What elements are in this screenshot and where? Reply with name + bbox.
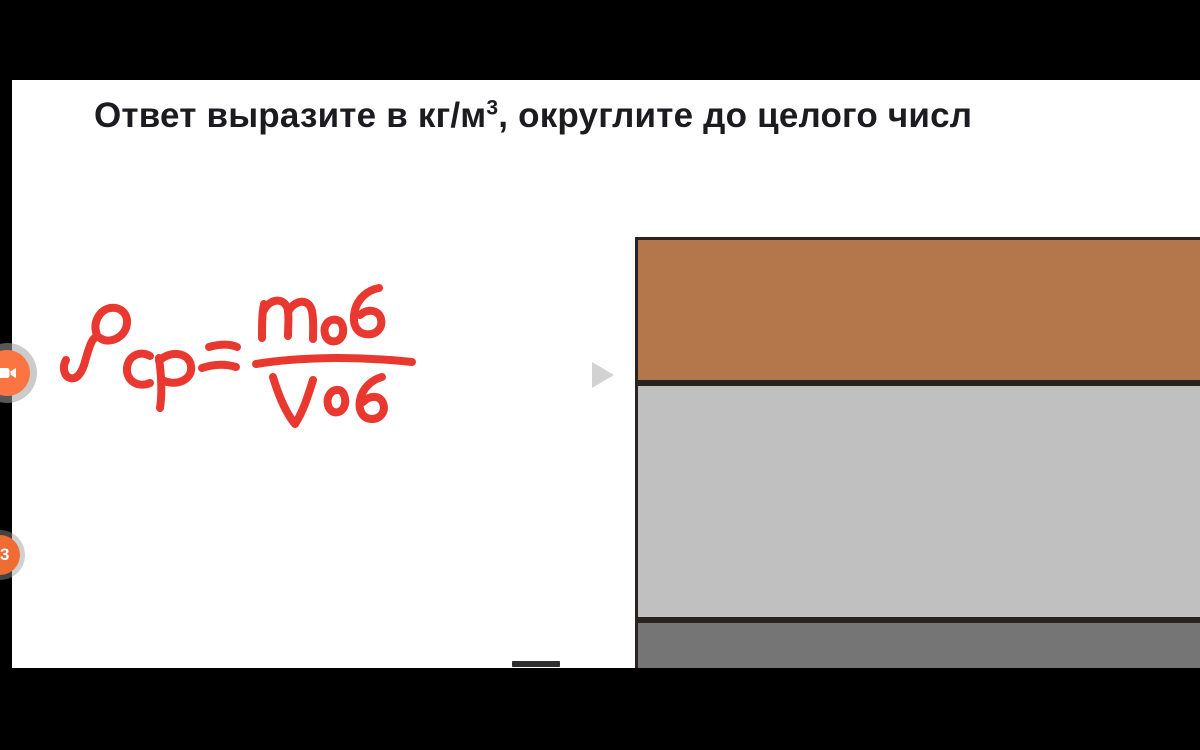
page-title: Ответ выразите в кг/м3, округлите до цел… — [94, 92, 1200, 140]
video-stage: Ответ выразите в кг/м3, округлите до цел… — [0, 0, 1200, 750]
diagram-block-bottom — [635, 620, 1200, 668]
diagram-block-middle — [635, 383, 1200, 620]
video-camera-icon — [0, 366, 17, 380]
heading-text-part-1: Ответ выразите в кг/м — [94, 96, 486, 135]
heading-text-part-2: , округлите до целого числ — [498, 96, 972, 135]
heading-superscript: 3 — [486, 96, 498, 119]
slide-canvas: Ответ выразите в кг/м3, округлите до цел… — [12, 80, 1200, 668]
handwritten-formula — [34, 240, 454, 440]
progress-handle[interactable] — [512, 661, 560, 667]
notification-count-label: 13 — [0, 545, 9, 565]
play-triangle-icon[interactable] — [590, 360, 616, 390]
diagram-block-top — [635, 237, 1200, 383]
